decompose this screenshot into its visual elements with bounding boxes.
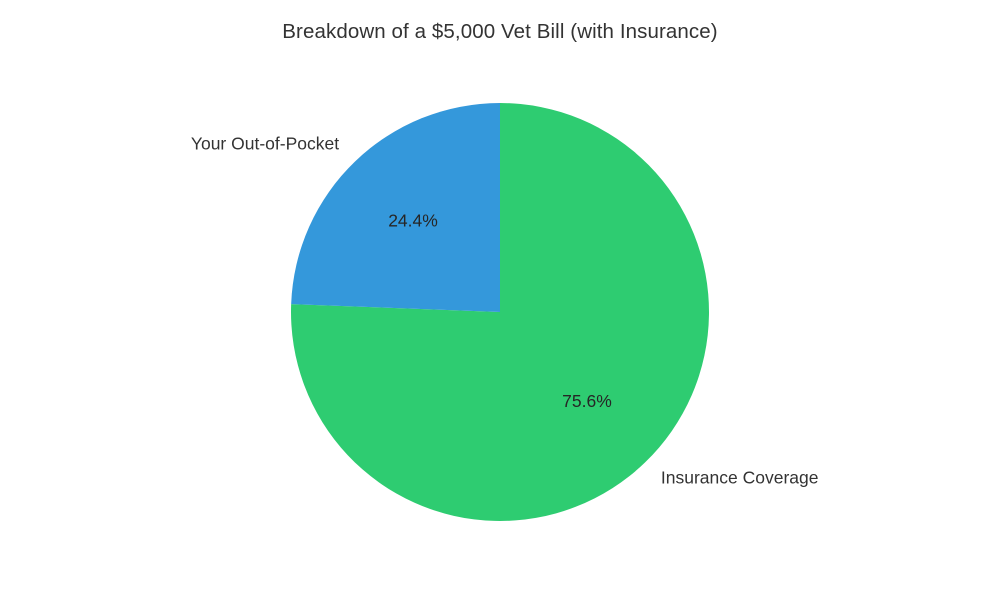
pie-percent-label-your-out-of-pocket: 24.4%: [388, 210, 438, 230]
pie-percent-label-insurance-coverage: 75.6%: [562, 391, 612, 411]
pie-chart-canvas: 75.6% 24.4% Insurance Coverage Your Out-…: [0, 0, 1000, 600]
pie-category-label-insurance-coverage: Insurance Coverage: [661, 468, 819, 488]
pie-category-label-your-out-of-pocket: Your Out-of-Pocket: [191, 134, 339, 154]
pie-chart-figure: Breakdown of a $5,000 Vet Bill (with Ins…: [0, 0, 1000, 600]
